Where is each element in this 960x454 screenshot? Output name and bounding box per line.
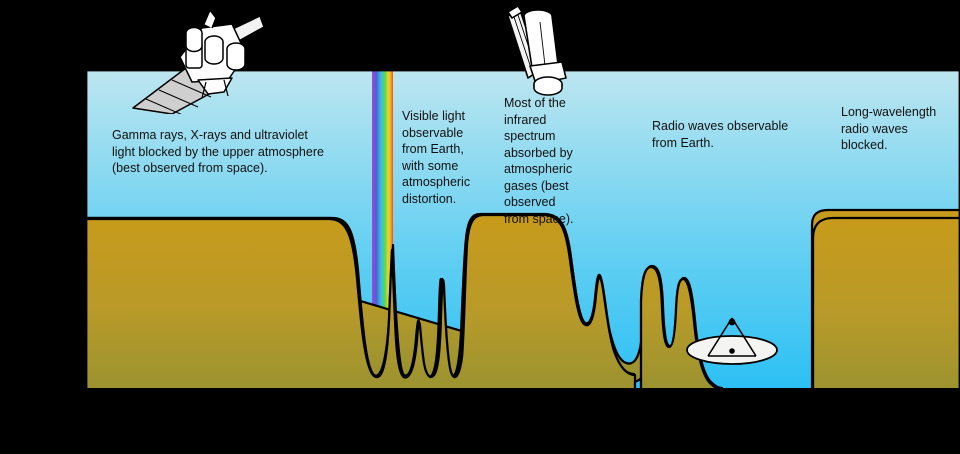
caption-gamma-xray-uv: Gamma rays, X-rays and ultraviolet light… <box>112 127 362 177</box>
wavelength-axis <box>86 388 960 402</box>
space-telescope-icon <box>500 0 578 96</box>
long-wavelength-block <box>813 218 960 390</box>
caption-radio-observable: Radio waves observable from Earth. <box>652 118 812 151</box>
caption-infrared: Most of the infrared spectrum absorbed b… <box>504 95 594 227</box>
gamma-ray-satellite-icon <box>128 2 263 114</box>
caption-visible-light: Visible light observable from Earth, wit… <box>402 108 478 207</box>
figure-root: Gamma rays, X-rays and ultraviolet light… <box>0 0 960 454</box>
caption-long-wavelength-radio: Long-wavelength radio waves blocked. <box>841 104 951 154</box>
